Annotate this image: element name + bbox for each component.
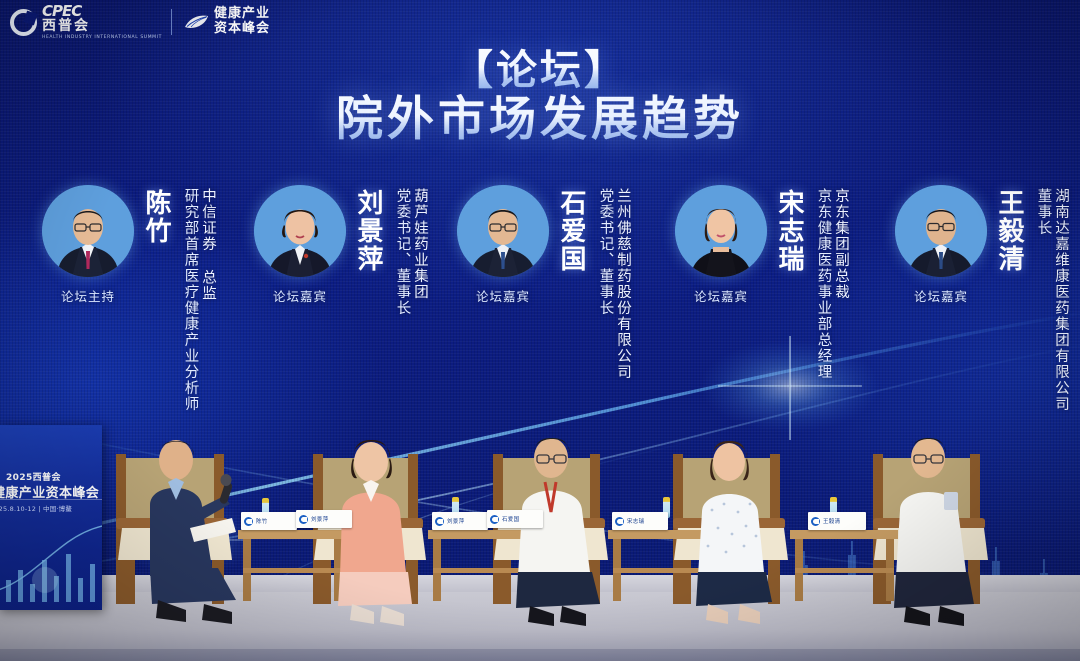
nameplate-name: 陈竹 bbox=[256, 517, 268, 525]
nameplate-logo-icon bbox=[299, 515, 308, 524]
speaker-title-line-2: 党委书记、董事长 bbox=[598, 188, 613, 380]
speaker-card: 论坛嘉宾 石爱国 兰州佛慈制药股份有限公司 党委书记、董事长 bbox=[455, 185, 630, 380]
logo-cpec-cn: 西普会 bbox=[42, 19, 162, 33]
nameplate-logo-icon bbox=[244, 517, 253, 526]
speaker-name: 陈竹 bbox=[138, 189, 175, 245]
speaker-title-block: 葫芦娃药业集团 党委书记、董事长 bbox=[392, 188, 427, 316]
avatar bbox=[254, 185, 346, 277]
nameplate[interactable]: 王毅清 bbox=[808, 512, 866, 530]
speaker-title-block: 湖南达嘉维康医药集团有限公司 董事长 bbox=[1033, 188, 1068, 412]
speaker-card: 论坛嘉宾 宋志瑞 京东集团副总裁 京东健康医药事业部总经理 bbox=[673, 185, 848, 380]
speaker-role: 论坛嘉宾 bbox=[914, 286, 968, 305]
nameplate-logo-icon bbox=[811, 517, 820, 526]
nameplate[interactable]: 刘景萍 bbox=[432, 512, 488, 530]
logo-summit-line2: 资本峰会 bbox=[214, 22, 270, 37]
logo-cpec: CPEC 西普会 HEALTH INDUSTRY INTERNATIONAL S… bbox=[10, 4, 162, 41]
leaf-icon bbox=[183, 14, 209, 30]
logo-summit: 健康产业 资本峰会 bbox=[183, 7, 270, 36]
nameplate-name: 刘景萍 bbox=[447, 517, 464, 525]
speaker-title-line-2: 党委书记、董事长 bbox=[395, 188, 410, 316]
speaker-role: 论坛嘉宾 bbox=[476, 286, 530, 305]
speaker-title-block: 京东集团副总裁 京东健康医药事业部总经理 bbox=[813, 188, 848, 380]
nameplate-name: 王毅清 bbox=[823, 517, 840, 525]
nameplate[interactable]: 刘景萍 bbox=[296, 510, 352, 528]
speaker-role: 论坛嘉宾 bbox=[694, 286, 748, 305]
nameplate-name: 石爱国 bbox=[502, 515, 519, 523]
avatar bbox=[675, 185, 767, 277]
nameplate-logo-icon bbox=[615, 517, 624, 526]
speaker-role: 论坛嘉宾 bbox=[273, 286, 327, 305]
speaker-title-block: 兰州佛慈制药股份有限公司 党委书记、董事长 bbox=[595, 188, 630, 380]
logo-summit-line1: 健康产业 bbox=[214, 7, 270, 22]
speaker-title-line-1: 中信证券 总监 bbox=[201, 188, 216, 412]
header-logo-bar: CPEC 西普会 HEALTH INDUSTRY INTERNATIONAL S… bbox=[0, 0, 1080, 44]
avatar bbox=[457, 185, 549, 277]
speaker-title-line-1: 兰州佛慈制药股份有限公司 bbox=[616, 188, 631, 380]
avatar bbox=[895, 185, 987, 277]
forum-title-bracket: 【论坛】 bbox=[0, 48, 1080, 92]
logo-cpec-en: HEALTH INDUSTRY INTERNATIONAL SUMMIT bbox=[42, 36, 162, 41]
nameplate[interactable]: 陈竹 bbox=[241, 512, 297, 530]
nameplate-logo-icon bbox=[435, 517, 444, 526]
speaker-role: 论坛主持 bbox=[61, 286, 115, 305]
nameplate-logo-icon bbox=[490, 515, 499, 524]
speaker-title-block: 中信证券 总监 研究部首席医疗健康产业分析师 bbox=[180, 188, 215, 412]
conference-stage-photo: CPEC 西普会 HEALTH INDUSTRY INTERNATIONAL S… bbox=[0, 0, 1080, 661]
forum-title-main: 院外市场发展趋势 bbox=[0, 94, 1080, 147]
speaker-card: 论坛嘉宾 刘景萍 葫芦娃药业集团 党委书记、董事长 bbox=[252, 185, 427, 316]
nameplate[interactable]: 石爱国 bbox=[487, 510, 543, 528]
speaker-title-line-1: 葫芦娃药业集团 bbox=[413, 188, 428, 316]
speaker-title-line-2: 京东健康医药事业部总经理 bbox=[816, 188, 831, 380]
speaker-card: 论坛主持 陈竹 中信证券 总监 研究部首席医疗健康产业分析师 bbox=[40, 185, 215, 412]
logo-divider bbox=[171, 9, 172, 35]
speaker-title-line-2: 董事长 bbox=[1036, 188, 1051, 412]
speaker-card: 论坛嘉宾 王毅清 湖南达嘉维康医药集团有限公司 董事长 bbox=[893, 185, 1068, 412]
avatar bbox=[42, 185, 134, 277]
cpec-ring-icon bbox=[10, 9, 37, 36]
speaker-name: 石爱国 bbox=[553, 189, 590, 273]
nameplate-name: 宋志瑞 bbox=[627, 517, 644, 525]
speaker-name: 宋志瑞 bbox=[771, 189, 808, 273]
nameplate[interactable]: 宋志瑞 bbox=[612, 512, 668, 530]
speaker-name: 刘景萍 bbox=[350, 189, 387, 273]
speaker-list: 论坛主持 陈竹 中信证券 总监 研究部首席医疗健康产业分析师 bbox=[0, 185, 1080, 425]
nameplate-name: 刘景萍 bbox=[311, 515, 328, 523]
speaker-title-line-2: 研究部首席医疗健康产业分析师 bbox=[183, 188, 198, 412]
speaker-title-line-1: 京东集团副总裁 bbox=[834, 188, 849, 380]
forum-title-block: 【论坛】 院外市场发展趋势 bbox=[0, 48, 1080, 147]
speaker-name: 王毅清 bbox=[991, 189, 1028, 273]
speaker-title-line-1: 湖南达嘉维康医药集团有限公司 bbox=[1054, 188, 1069, 412]
logo-cpec-abbr: CPEC bbox=[42, 4, 162, 19]
